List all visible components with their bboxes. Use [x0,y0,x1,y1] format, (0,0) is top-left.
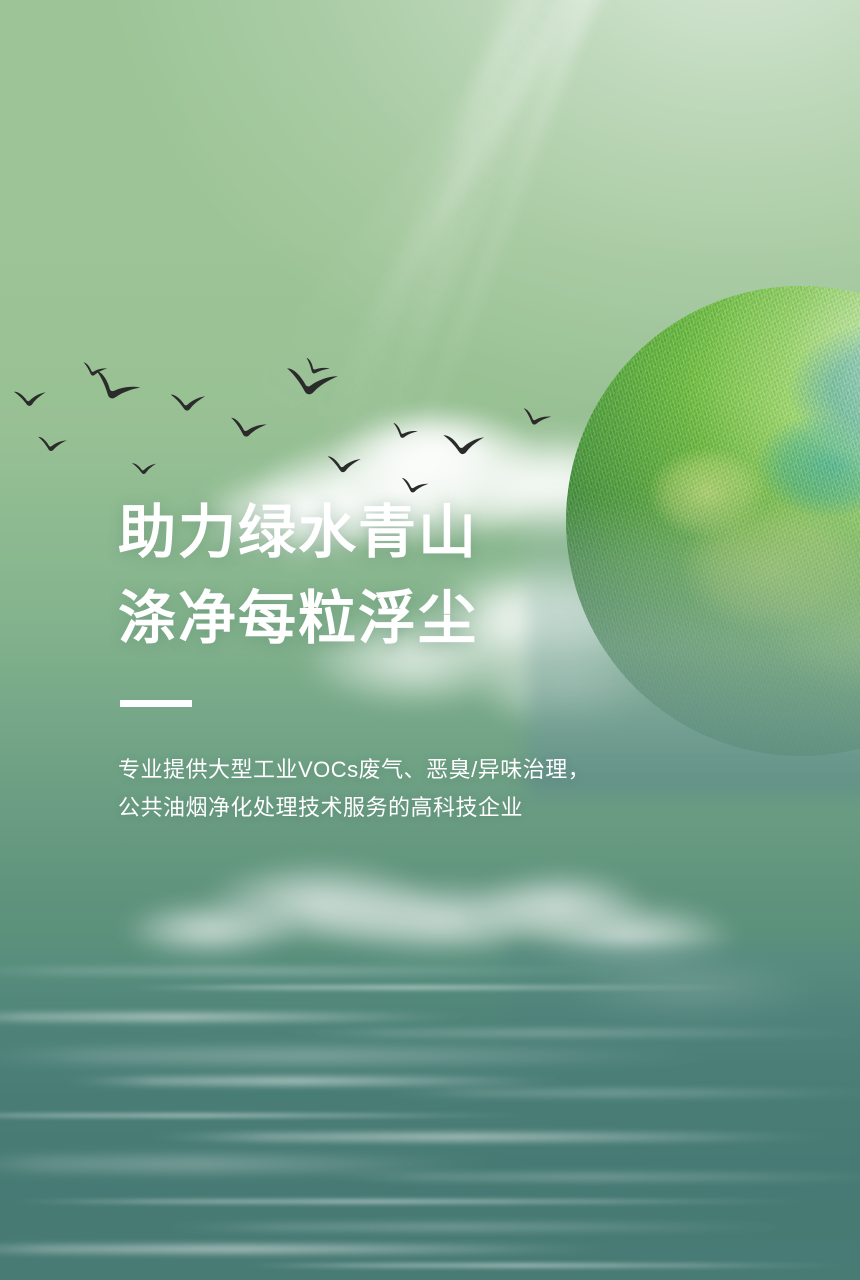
bird-icon-9 [284,364,343,400]
subtitle-line-2: 公共油烟净化处理技术服务的高科技企业 [118,789,658,827]
bird-icon-5 [37,435,69,454]
water-ripple-12 [0,1200,820,1203]
bird-icon-11 [441,429,489,459]
water-ripple-1 [0,968,640,974]
bird-icon-1 [12,386,50,411]
water-ripple-13 [160,1224,800,1230]
bird-icon-13 [326,452,364,475]
water-ripple-8 [0,1114,540,1117]
water-ripple-4 [280,1030,860,1036]
bird-icon-3 [88,367,147,410]
water-ripple-6 [60,1078,580,1084]
water-ripple-3 [0,1014,480,1020]
bird-icon-7 [228,415,270,442]
water-ripple-15 [240,1264,860,1267]
water-ripple-10 [0,1158,500,1170]
water-ripple-11 [320,1174,860,1180]
subtitle-line-1: 专业提供大型工业VOCs废气、恶臭/异味治理， [118,751,658,789]
subtitle-block: 专业提供大型工业VOCs废气、恶臭/异味治理， 公共油烟净化处理技术服务的高科技… [118,751,658,827]
water-reflection [0,938,860,1280]
water-ripple-9 [140,1134,840,1140]
eco-promo-poster: 助力绿水青山 涤净每粒浮尘 专业提供大型工业VOCs废气、恶臭/异味治理， 公共… [0,0,860,1280]
bird-icon-4 [169,389,210,415]
water-ripple-14 [0,1246,620,1252]
cloud-8 [200,860,440,946]
water-ripple-5 [0,1050,720,1062]
water-ripple-2 [120,986,760,989]
bird-flock [0,330,520,470]
headline-line-2: 涤净每粒浮尘 [118,576,658,662]
copy-block: 助力绿水青山 涤净每粒浮尘 专业提供大型工业VOCs废气、恶臭/异味治理， 公共… [118,490,658,827]
cloud-10 [470,870,650,940]
bird-icon-6 [131,459,160,478]
bird-icon-10 [389,421,421,444]
headline-line-1: 助力绿水青山 [118,490,658,576]
water-ripple-7 [380,1090,860,1096]
divider-rule [120,700,192,707]
